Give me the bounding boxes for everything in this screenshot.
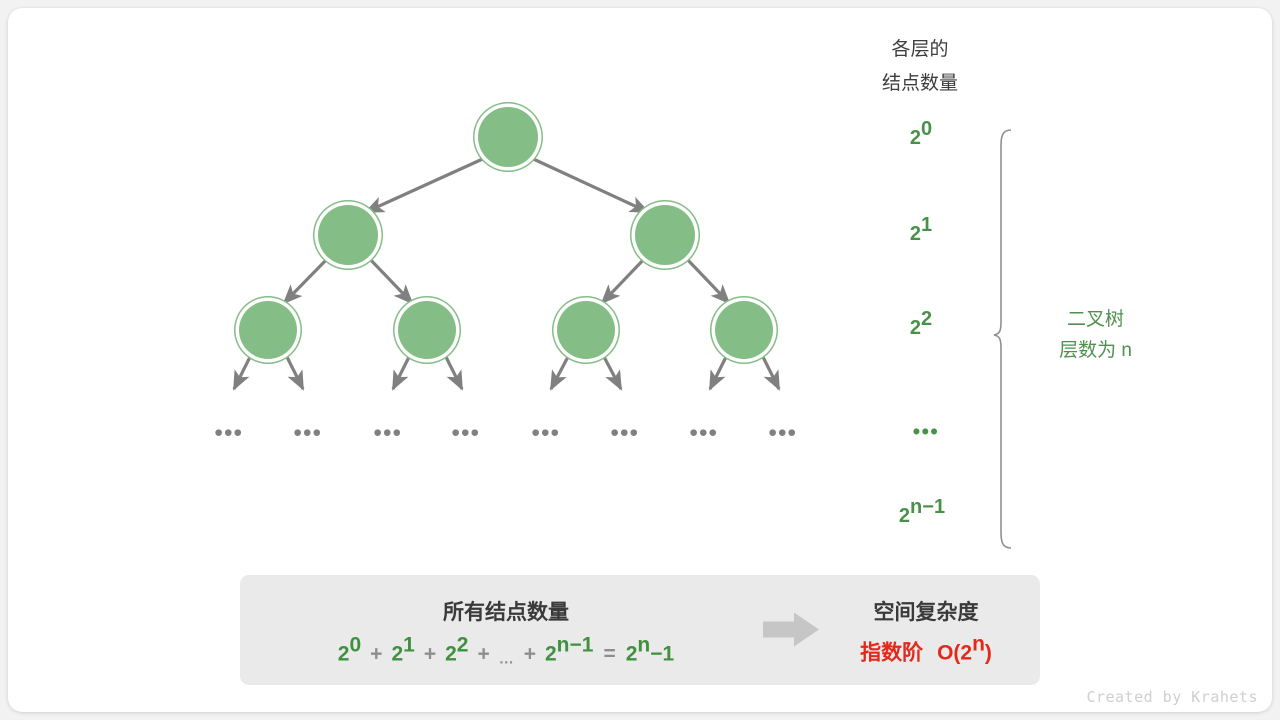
leaf-ellipsis-6: ••• (611, 422, 640, 445)
level-label-ellipsis: ••• (913, 422, 940, 443)
leaf-ellipsis-4: ••• (452, 422, 481, 445)
leaf-ellipsis-3: ••• (374, 422, 403, 445)
formula-term-1-base: 2 (391, 643, 403, 666)
level-label-n-1-base: 2 (899, 505, 910, 527)
formula-term-1-exp: 1 (403, 634, 415, 657)
level-label-2-exp: 2 (921, 308, 932, 330)
formula-result-exp: n (637, 634, 650, 657)
formula-ellipsis: … (499, 651, 515, 668)
brace-note: 二叉树 层数为 n (1023, 304, 1168, 366)
brace-note-line1: 二叉树 (1023, 304, 1168, 335)
summary-formula: 20+21+22+…+2n−1=2n−1 (338, 644, 674, 665)
formula-term-2-exp: 2 (457, 634, 469, 657)
complexity-close: ) (985, 642, 992, 665)
tree-node-l2-1 (239, 301, 297, 359)
level-label-1-exp: 1 (921, 214, 932, 236)
leaf-ellipsis-8: ••• (769, 422, 798, 445)
summary-box (240, 575, 1040, 685)
watermark: Created by Krahets (1086, 688, 1258, 706)
summary-complexity: 指数阶O(2n) (860, 643, 992, 664)
column-header-line1: 各层的 (830, 33, 1010, 67)
figure-canvas: ••• ••• ••• ••• ••• ••• ••• ••• 各层的 结点数量… (0, 0, 1280, 720)
formula-result-tail: −1 (650, 643, 674, 666)
level-label-1-base: 2 (910, 223, 921, 245)
complexity-exp: n (972, 633, 985, 656)
formula-last-base: 2 (545, 643, 557, 666)
tree-node-l2-4 (715, 301, 773, 359)
level-label-n-1: 2n−1 (899, 506, 945, 526)
tree-node-root (478, 107, 538, 167)
right-arrow-icon (763, 613, 819, 652)
level-label-0: 20 (910, 128, 932, 148)
level-label-0-exp: 0 (921, 118, 932, 140)
formula-term-0-base: 2 (338, 643, 350, 666)
level-label-n-1-exp: n−1 (910, 496, 945, 518)
formula-result-base: 2 (626, 643, 638, 666)
tree-node-l1-2 (635, 205, 695, 265)
formula-term-0-exp: 0 (349, 634, 361, 657)
formula-plus-2: + (424, 643, 436, 666)
summary-right-title: 空间复杂度 (874, 596, 979, 626)
right-arrow-icon-svg (763, 613, 819, 647)
leaf-ellipsis-7: ••• (690, 422, 719, 445)
complexity-prefix: 指数阶 (860, 642, 923, 665)
formula-plus-1: + (370, 643, 382, 666)
tree-node-l1-1 (318, 205, 378, 265)
column-header-line2: 结点数量 (830, 67, 1010, 101)
complexity-bigo: O(2 (937, 642, 972, 665)
leaf-ellipsis-1: ••• (215, 422, 244, 445)
formula-plus-4: + (524, 643, 536, 666)
level-label-1: 21 (910, 224, 932, 244)
level-label-2: 22 (910, 318, 932, 338)
formula-equals: = (603, 643, 615, 666)
leaf-ellipsis-5: ••• (532, 422, 561, 445)
level-label-2-base: 2 (910, 317, 921, 339)
tree-node-l2-3 (557, 301, 615, 359)
formula-last-exp: n−1 (557, 634, 594, 657)
column-header: 各层的 结点数量 (830, 33, 1010, 101)
formula-plus-3: + (477, 643, 489, 666)
brace-note-line2: 层数为 n (1023, 335, 1168, 366)
formula-term-2-base: 2 (445, 643, 457, 666)
level-label-0-base: 2 (910, 127, 921, 149)
tree-node-l2-2 (398, 301, 456, 359)
leaf-ellipsis-2: ••• (294, 422, 323, 445)
summary-left-title: 所有结点数量 (443, 596, 569, 626)
